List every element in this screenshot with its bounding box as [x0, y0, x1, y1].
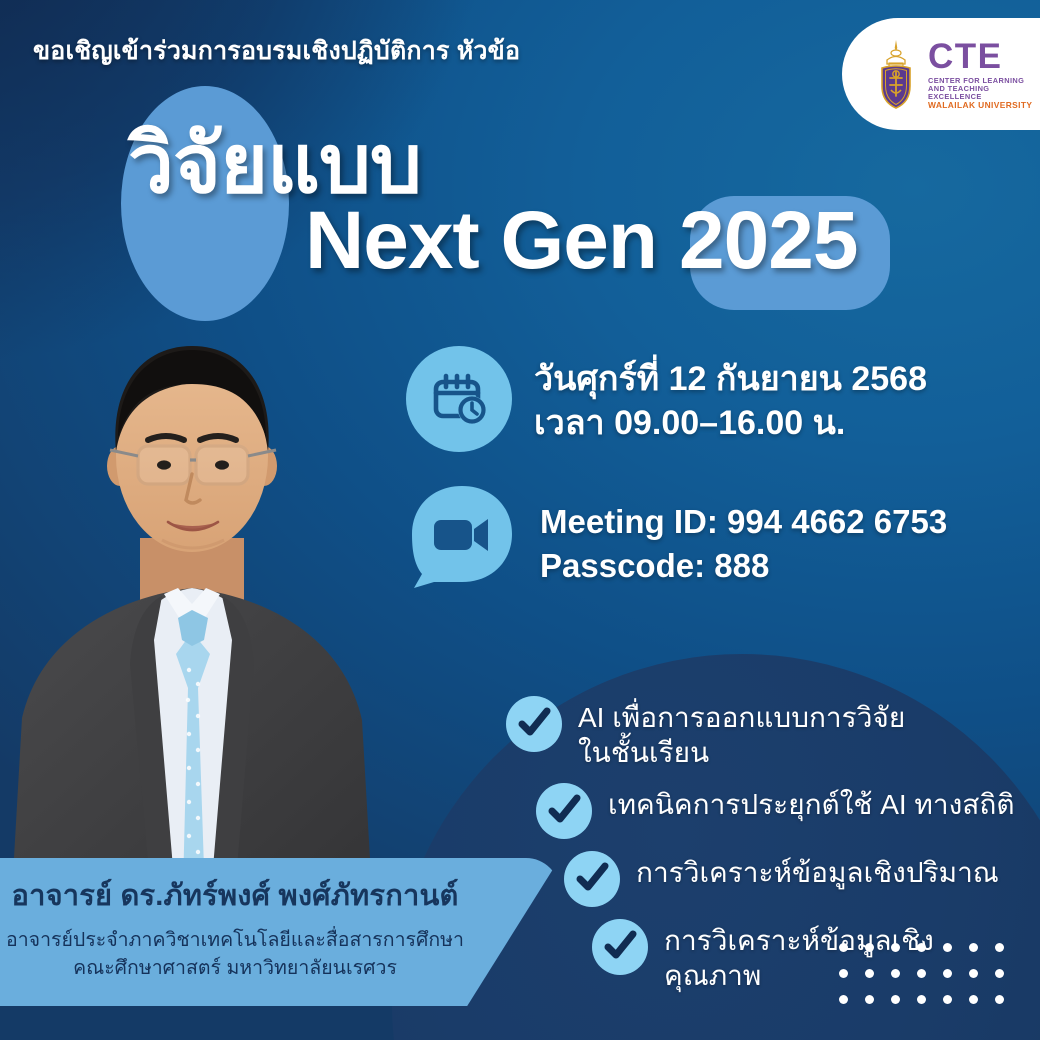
- cte-logo-sub1: CENTER FOR LEARNING: [928, 77, 1040, 84]
- calendar-clock-icon: [406, 346, 512, 452]
- check-circle-icon: [536, 783, 592, 839]
- meeting-id: Meeting ID: 994 4662 6753: [540, 500, 947, 544]
- speaker-banner: อาจารย์ ดร.ภัทร์พงศ์ พงศ์ภัทรกานต์ อาจาร…: [0, 858, 560, 1006]
- cte-logo-sub3: WALAILAK UNIVERSITY: [928, 101, 1040, 109]
- list-item-label: การวิเคราะห์ข้อมูลเชิงปริมาณ: [636, 851, 999, 890]
- check-circle-icon: [564, 851, 620, 907]
- event-date: วันศุกร์ที่ 12 กันยายน 2568: [534, 358, 927, 402]
- meeting-passcode: Passcode: 888: [540, 544, 947, 588]
- meeting-block: Meeting ID: 994 4662 6753 Passcode: 888: [406, 484, 947, 590]
- list-item: เทคนิคการประยุกต์ใช้ AI ทางสถิติ: [536, 783, 1026, 839]
- check-circle-icon: [506, 696, 562, 752]
- check-circle-icon: [592, 919, 648, 975]
- page-title-year: 2025: [679, 200, 857, 282]
- poster-canvas: CTE CENTER FOR LEARNING AND TEACHING EXC…: [0, 0, 1040, 1040]
- walailak-university-seal-icon: [870, 38, 922, 110]
- list-item-label: เทคนิคการประยุกต์ใช้ AI ทางสถิติ: [608, 783, 1015, 822]
- dot-grid-icon: [839, 943, 1004, 1004]
- invitation-kicker: ขอเชิญเข้าร่วมการอบรมเชิงปฏิบัติการ หัวข…: [33, 31, 520, 71]
- schedule-block: วันศุกร์ที่ 12 กันยายน 2568 เวลา 09.00–1…: [406, 346, 927, 452]
- cte-logo-card: CTE CENTER FOR LEARNING AND TEACHING EXC…: [842, 18, 1040, 130]
- page-title-line2: Next Gen 2025: [305, 200, 857, 282]
- speaker-portrait: [0, 288, 392, 928]
- page-title-line1: วิจัยแบบ: [128, 124, 421, 206]
- cte-logo-sub2: AND TEACHING EXCELLENCE: [928, 85, 1040, 100]
- speaker-role-line1: อาจารย์ประจำภาควิชาเทคโนโลยีและสื่อสารกา…: [0, 927, 560, 955]
- list-item: AI เพื่อการออกแบบการวิจัยในชั้นเรียน: [506, 696, 1026, 771]
- page-title-next-gen: Next Gen: [305, 200, 657, 282]
- list-item-label: AI เพื่อการออกแบบการวิจัยในชั้นเรียน: [578, 696, 905, 771]
- list-item: การวิเคราะห์ข้อมูลเชิงปริมาณ: [564, 851, 1026, 907]
- meeting-text: Meeting ID: 994 4662 6753 Passcode: 888: [540, 484, 947, 587]
- speaker-name: อาจารย์ ดร.ภัทร์พงศ์ พงศ์ภัทรกานต์: [0, 872, 560, 918]
- video-camera-bubble-icon: [406, 484, 518, 590]
- schedule-text: วันศุกร์ที่ 12 กันยายน 2568 เวลา 09.00–1…: [534, 346, 927, 445]
- cte-logo-text: CTE CENTER FOR LEARNING AND TEACHING EXC…: [928, 39, 1040, 110]
- event-time: เวลา 09.00–16.00 น.: [534, 402, 927, 446]
- speaker-role-line2: คณะศึกษาศาสตร์ มหาวิทยาลัยนเรศวร: [0, 955, 560, 983]
- cte-logo-name: CTE: [928, 39, 1040, 74]
